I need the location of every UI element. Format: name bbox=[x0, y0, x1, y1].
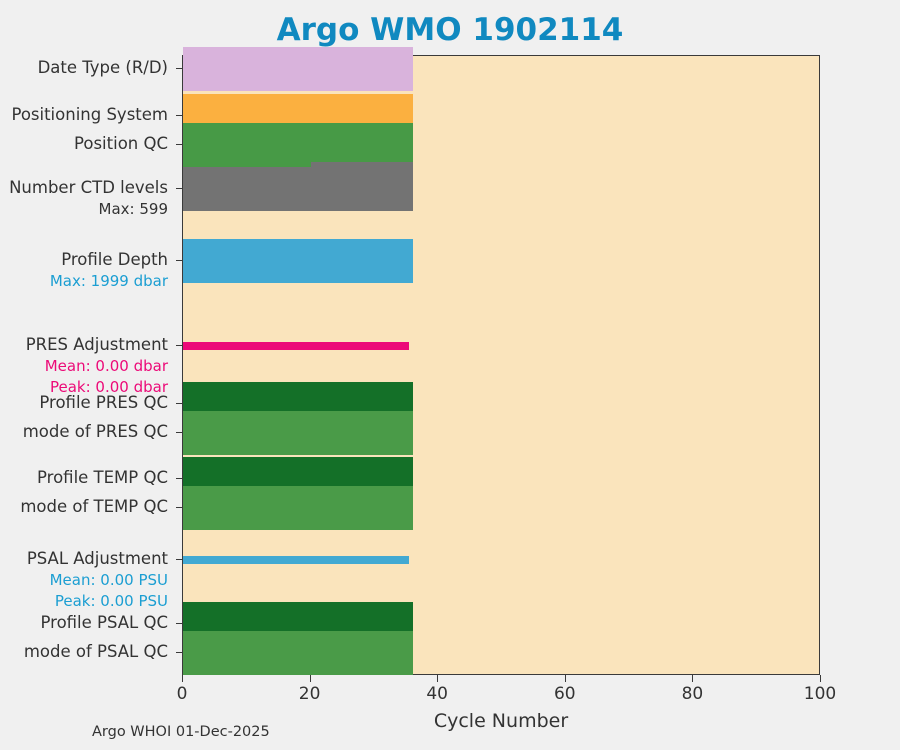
y-label-positioning-system: Positioning System bbox=[0, 105, 176, 125]
y-label-profile-temp-qc: Profile TEMP QC bbox=[0, 468, 176, 488]
y-sublabel: Mean: 0.00 PSU bbox=[0, 570, 176, 590]
bar-date-type-r-d bbox=[183, 47, 413, 91]
x-axis-tick-label: 60 bbox=[525, 684, 605, 704]
y-sublabel: Max: 1999 dbar bbox=[0, 271, 176, 291]
y-axis-tick bbox=[176, 478, 183, 479]
x-axis-tick bbox=[310, 675, 311, 682]
bar-psal-adjustment bbox=[183, 556, 409, 564]
x-axis-tick bbox=[182, 675, 183, 682]
y-axis-tick bbox=[176, 652, 183, 653]
x-axis-tick-label: 40 bbox=[397, 684, 477, 704]
bar-number-ctd-levels-step bbox=[311, 162, 413, 167]
x-axis-tick bbox=[437, 675, 438, 682]
bar-position-qc bbox=[183, 123, 413, 167]
y-axis-tick bbox=[176, 345, 183, 346]
y-axis-tick bbox=[176, 144, 183, 145]
y-label-mode-of-pres-qc: mode of PRES QC bbox=[0, 422, 176, 442]
y-sublabel: Peak: 0.00 PSU bbox=[0, 591, 176, 611]
bar-profile-depth bbox=[183, 239, 413, 283]
bar-mode-of-temp-qc bbox=[183, 486, 413, 530]
y-axis-tick bbox=[176, 115, 183, 116]
y-label-mode-of-temp-qc: mode of TEMP QC bbox=[0, 497, 176, 517]
y-label-profile-pres-qc: Profile PRES QC bbox=[0, 393, 176, 413]
y-axis-tick bbox=[176, 403, 183, 404]
y-axis-tick bbox=[176, 188, 183, 189]
x-axis-tick bbox=[692, 675, 693, 682]
x-axis-tick-label: 20 bbox=[270, 684, 350, 704]
bar-mode-of-psal-qc bbox=[183, 631, 413, 675]
x-axis-tick-label: 0 bbox=[142, 684, 222, 704]
plot-area bbox=[182, 55, 820, 675]
y-sublabel: Max: 599 bbox=[0, 199, 176, 219]
bar-number-ctd-levels bbox=[183, 167, 413, 211]
y-axis-tick bbox=[176, 507, 183, 508]
x-axis-tick bbox=[820, 675, 821, 682]
page-title: Argo WMO 1902114 bbox=[0, 12, 900, 48]
y-label-pres-adjustment: PRES Adjustment bbox=[0, 335, 176, 355]
y-axis-tick bbox=[176, 432, 183, 433]
y-label-position-qc: Position QC bbox=[0, 134, 176, 154]
y-axis-labels: Date Type (R/D)Positioning SystemPositio… bbox=[0, 55, 176, 675]
bar-pres-adjustment bbox=[183, 342, 409, 350]
y-label-profile-psal-qc: Profile PSAL QC bbox=[0, 613, 176, 633]
y-label-number-ctd-levels: Number CTD levels bbox=[0, 178, 176, 198]
y-axis-tick bbox=[176, 260, 183, 261]
x-axis-tick-label: 80 bbox=[652, 684, 732, 704]
x-axis-tick bbox=[565, 675, 566, 682]
bar-mode-of-pres-qc bbox=[183, 411, 413, 455]
footer-note: Argo WHOI 01-Dec-2025 bbox=[92, 724, 270, 740]
y-axis-tick bbox=[176, 623, 183, 624]
y-label-mode-of-psal-qc: mode of PSAL QC bbox=[0, 642, 176, 662]
y-label-date-type-r-d: Date Type (R/D) bbox=[0, 58, 176, 78]
y-sublabel: Mean: 0.00 dbar bbox=[0, 356, 176, 376]
bars-layer bbox=[183, 56, 819, 674]
y-axis-tick bbox=[176, 68, 183, 69]
y-label-psal-adjustment: PSAL Adjustment bbox=[0, 549, 176, 569]
y-label-profile-depth: Profile Depth bbox=[0, 250, 176, 270]
argo-float-figure: Argo WMO 1902114 Date Type (R/D)Position… bbox=[0, 0, 900, 750]
x-axis-label: Cycle Number bbox=[182, 710, 820, 732]
x-axis-tick-label: 100 bbox=[780, 684, 860, 704]
y-axis-tick bbox=[176, 559, 183, 560]
